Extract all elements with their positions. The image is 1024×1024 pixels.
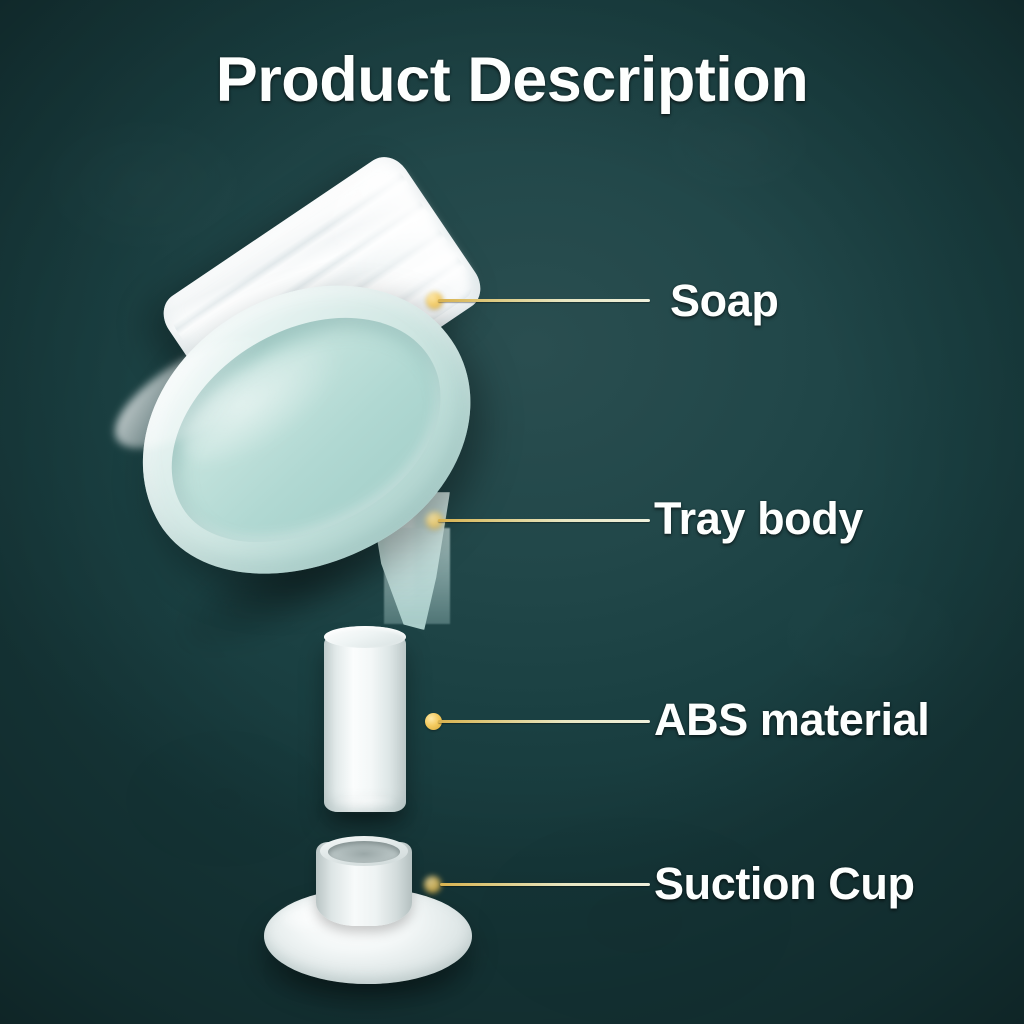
cylinder-body	[324, 634, 406, 812]
callout-label-tray-body: Tray body	[654, 493, 863, 545]
callout-label-suction-cup: Suction Cup	[654, 858, 915, 910]
suction-cup-icon	[258, 830, 483, 1000]
cylinder-top-rim	[324, 626, 406, 648]
product-description-infographic: Product Description	[0, 0, 1024, 1024]
soap-tray-icon	[132, 296, 492, 656]
callout-dot-suction-cup	[424, 876, 441, 893]
cylinder-stem-icon	[320, 620, 416, 820]
callout-line-tray-body	[438, 519, 650, 522]
callout-line-abs-material	[438, 720, 650, 723]
callout-line-suction-cup	[440, 883, 650, 886]
callout-line-soap	[438, 299, 650, 302]
cylinder-bottom-highlight	[330, 796, 400, 812]
callout-label-soap: Soap	[670, 275, 778, 327]
page-title: Product Description	[0, 44, 1024, 116]
tray-spout-artifact	[384, 528, 450, 624]
suction-cup-opening	[328, 841, 400, 863]
callout-label-abs-material: ABS material	[654, 694, 929, 746]
